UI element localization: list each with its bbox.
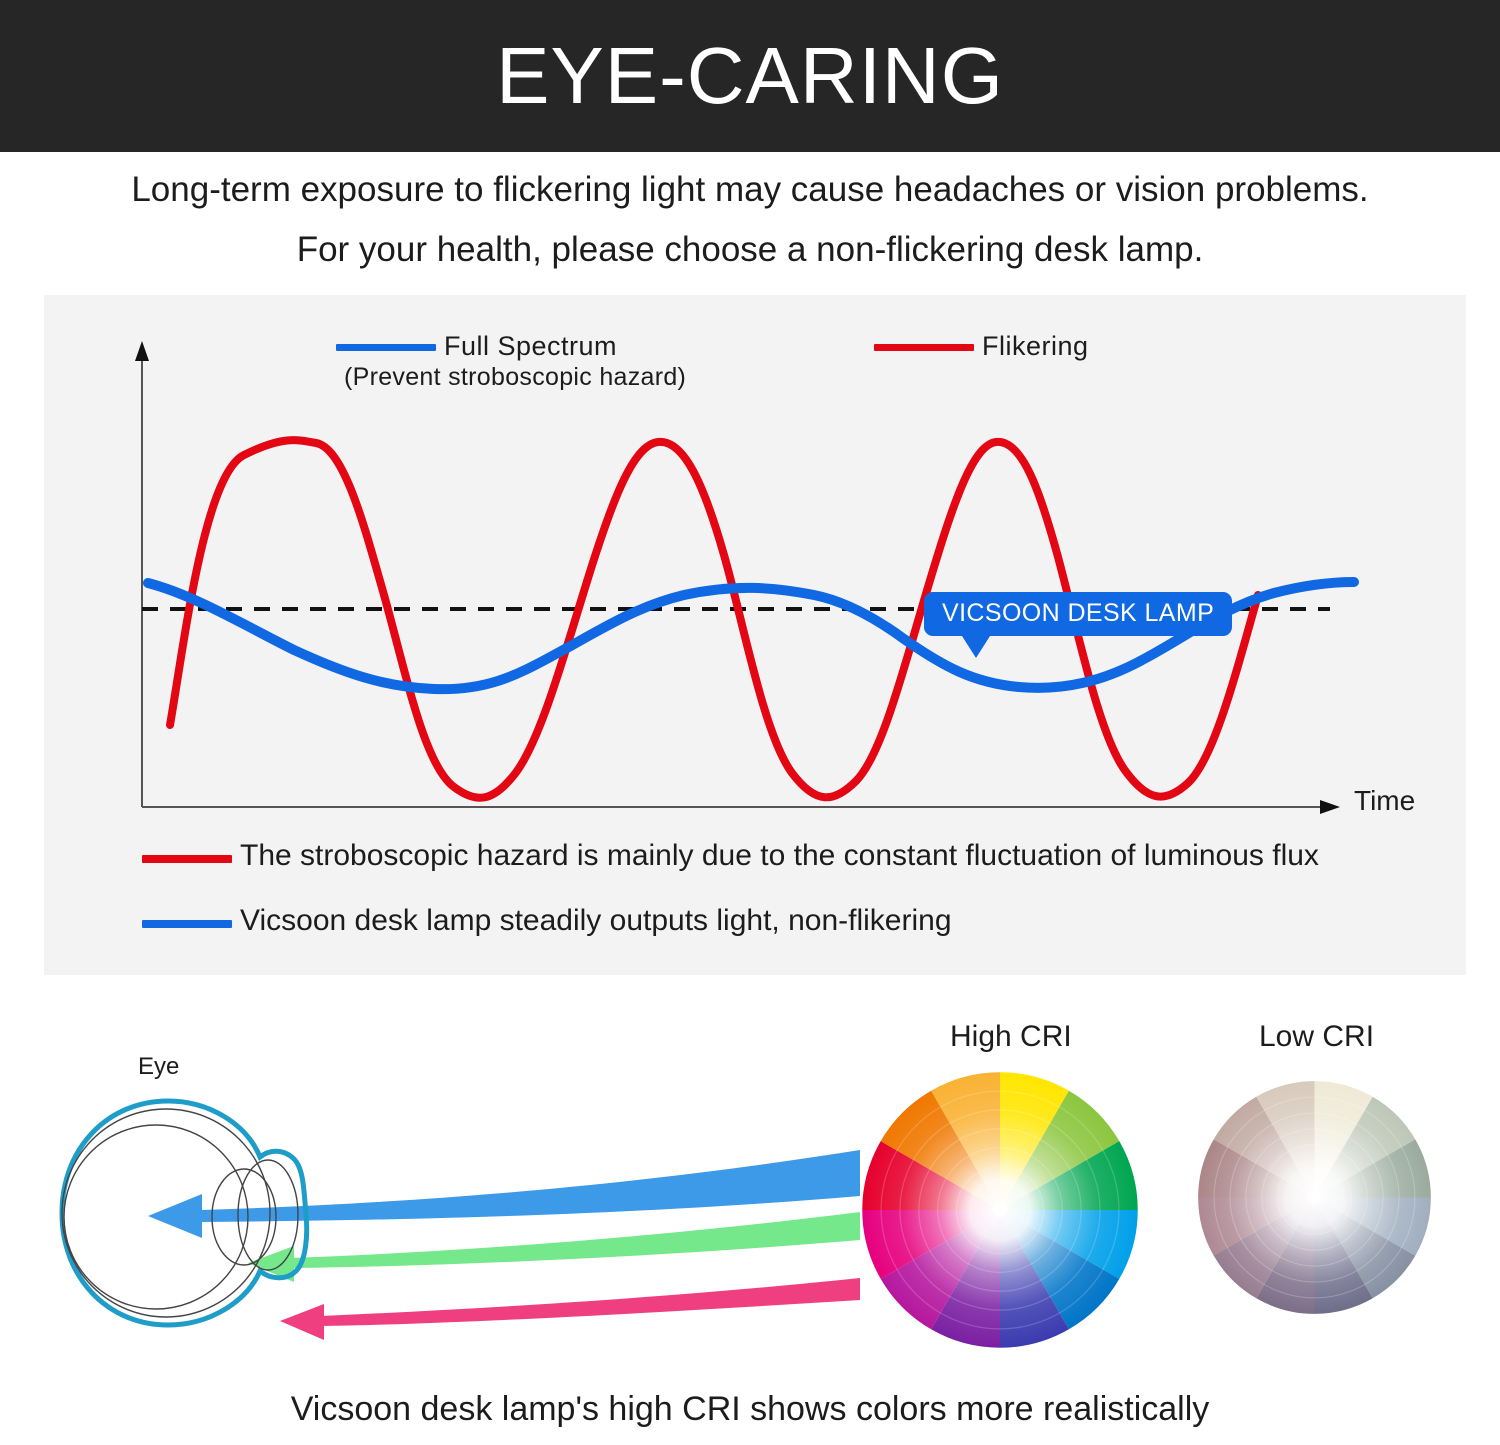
high-cri-color-wheel — [855, 1065, 1145, 1355]
eye-inner-circle-outer — [62, 1109, 270, 1317]
eye-cornea — [238, 1160, 298, 1270]
footnote-swatch-red — [142, 855, 232, 863]
subtitle-block: Long-term exposure to flickering light m… — [0, 160, 1500, 280]
infographic-page: EYE-CARING Long-term exposure to flicker… — [0, 0, 1500, 1445]
page-title: EYE-CARING — [496, 36, 1004, 116]
y-axis — [135, 341, 149, 807]
x-axis-label: Time — [1354, 785, 1415, 817]
high-cri-label: High CRI — [950, 1020, 1072, 1054]
tooltip-tail-icon — [962, 636, 990, 658]
cri-caption: Vicsoon desk lamp's high CRI shows color… — [0, 1390, 1500, 1429]
subtitle-line-1: Long-term exposure to flickering light m… — [0, 160, 1500, 220]
eye-label: Eye — [138, 1053, 179, 1081]
eye-diagram — [48, 1085, 368, 1345]
eye-inner-circle-retina — [64, 1125, 248, 1309]
footnote-swatch-blue — [142, 920, 232, 928]
flicker-chart-panel: Full Spectrum (Prevent stroboscopic haza… — [44, 295, 1466, 975]
flicker-waveform-chart — [44, 295, 1466, 975]
header-banner: EYE-CARING — [0, 0, 1500, 152]
vicsoon-tooltip-badge[interactable]: VICSOON DESK LAMP — [924, 592, 1232, 636]
footnote-label-red: The stroboscopic hazard is mainly due to… — [240, 839, 1319, 873]
low-cri-label: Low CRI — [1259, 1020, 1374, 1054]
low-cri-color-wheel — [1192, 1075, 1437, 1320]
footnote-label-blue: Vicsoon desk lamp steadily outputs light… — [240, 904, 952, 938]
subtitle-line-2: For your health, please choose a non-fli… — [0, 220, 1500, 280]
x-axis — [142, 800, 1340, 814]
